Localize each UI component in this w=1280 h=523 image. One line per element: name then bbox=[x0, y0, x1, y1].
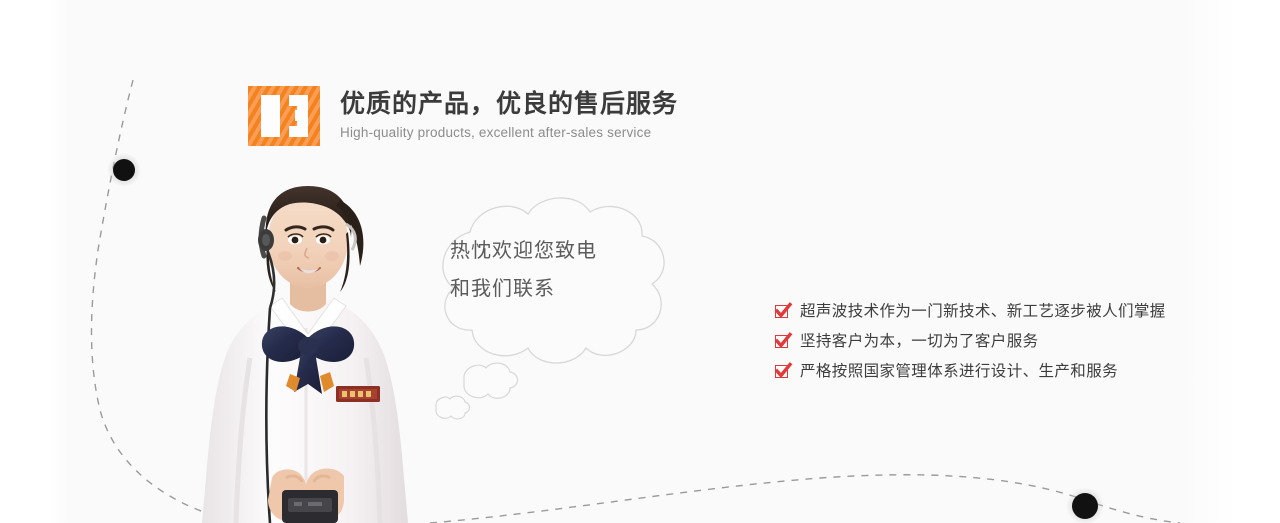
section-heading: 03 优质的产品，优良的售后服务 High-quality products, … bbox=[248, 86, 678, 146]
speech-bubble-tail-large bbox=[464, 363, 518, 398]
speech-bubble-tail-small bbox=[436, 396, 470, 419]
feature-text: 坚持客户为本，一切为了客户服务 bbox=[800, 331, 1039, 353]
list-item: 超声波技术作为一门新技术、新工艺逐步被人们掌握 bbox=[775, 298, 1215, 326]
right-edge-fade bbox=[1180, 0, 1280, 523]
page-subtitle: High-quality products, excellent after-s… bbox=[340, 124, 678, 142]
banner-stage: 03 优质的产品，优良的售后服务 High-quality products, … bbox=[0, 0, 1280, 523]
heading-text-group: 优质的产品，优良的售后服务 High-quality products, exc… bbox=[340, 86, 678, 142]
red-check-icon bbox=[775, 365, 790, 380]
left-edge-fade bbox=[0, 0, 70, 523]
speech-bubble-text: 热忱欢迎您致电 和我们联系 bbox=[450, 232, 650, 308]
red-check-icon bbox=[775, 335, 790, 350]
page-title: 优质的产品，优良的售后服务 bbox=[340, 88, 678, 120]
speech-bubble-shape bbox=[398, 188, 698, 433]
speech-bubble: 热忱欢迎您致电 和我们联系 bbox=[398, 188, 698, 433]
section-number-badge: 03 bbox=[248, 86, 320, 146]
list-item: 严格按照国家管理体系进行设计、生产和服务 bbox=[775, 358, 1215, 386]
feature-text: 超声波技术作为一门新技术、新工艺逐步被人们掌握 bbox=[800, 301, 1166, 323]
speech-bubble-line-2: 和我们联系 bbox=[450, 270, 650, 308]
list-item: 坚持客户为本，一切为了客户服务 bbox=[775, 328, 1215, 356]
feature-list: 超声波技术作为一门新技术、新工艺逐步被人们掌握 坚持客户为本，一切为了客户服务 … bbox=[775, 298, 1215, 388]
agent-photo bbox=[190, 178, 422, 523]
section-number-text: 03 bbox=[248, 86, 320, 146]
speech-bubble-line-1: 热忱欢迎您致电 bbox=[450, 232, 650, 270]
feature-text: 严格按照国家管理体系进行设计、生产和服务 bbox=[800, 361, 1118, 383]
red-check-icon bbox=[775, 305, 790, 320]
